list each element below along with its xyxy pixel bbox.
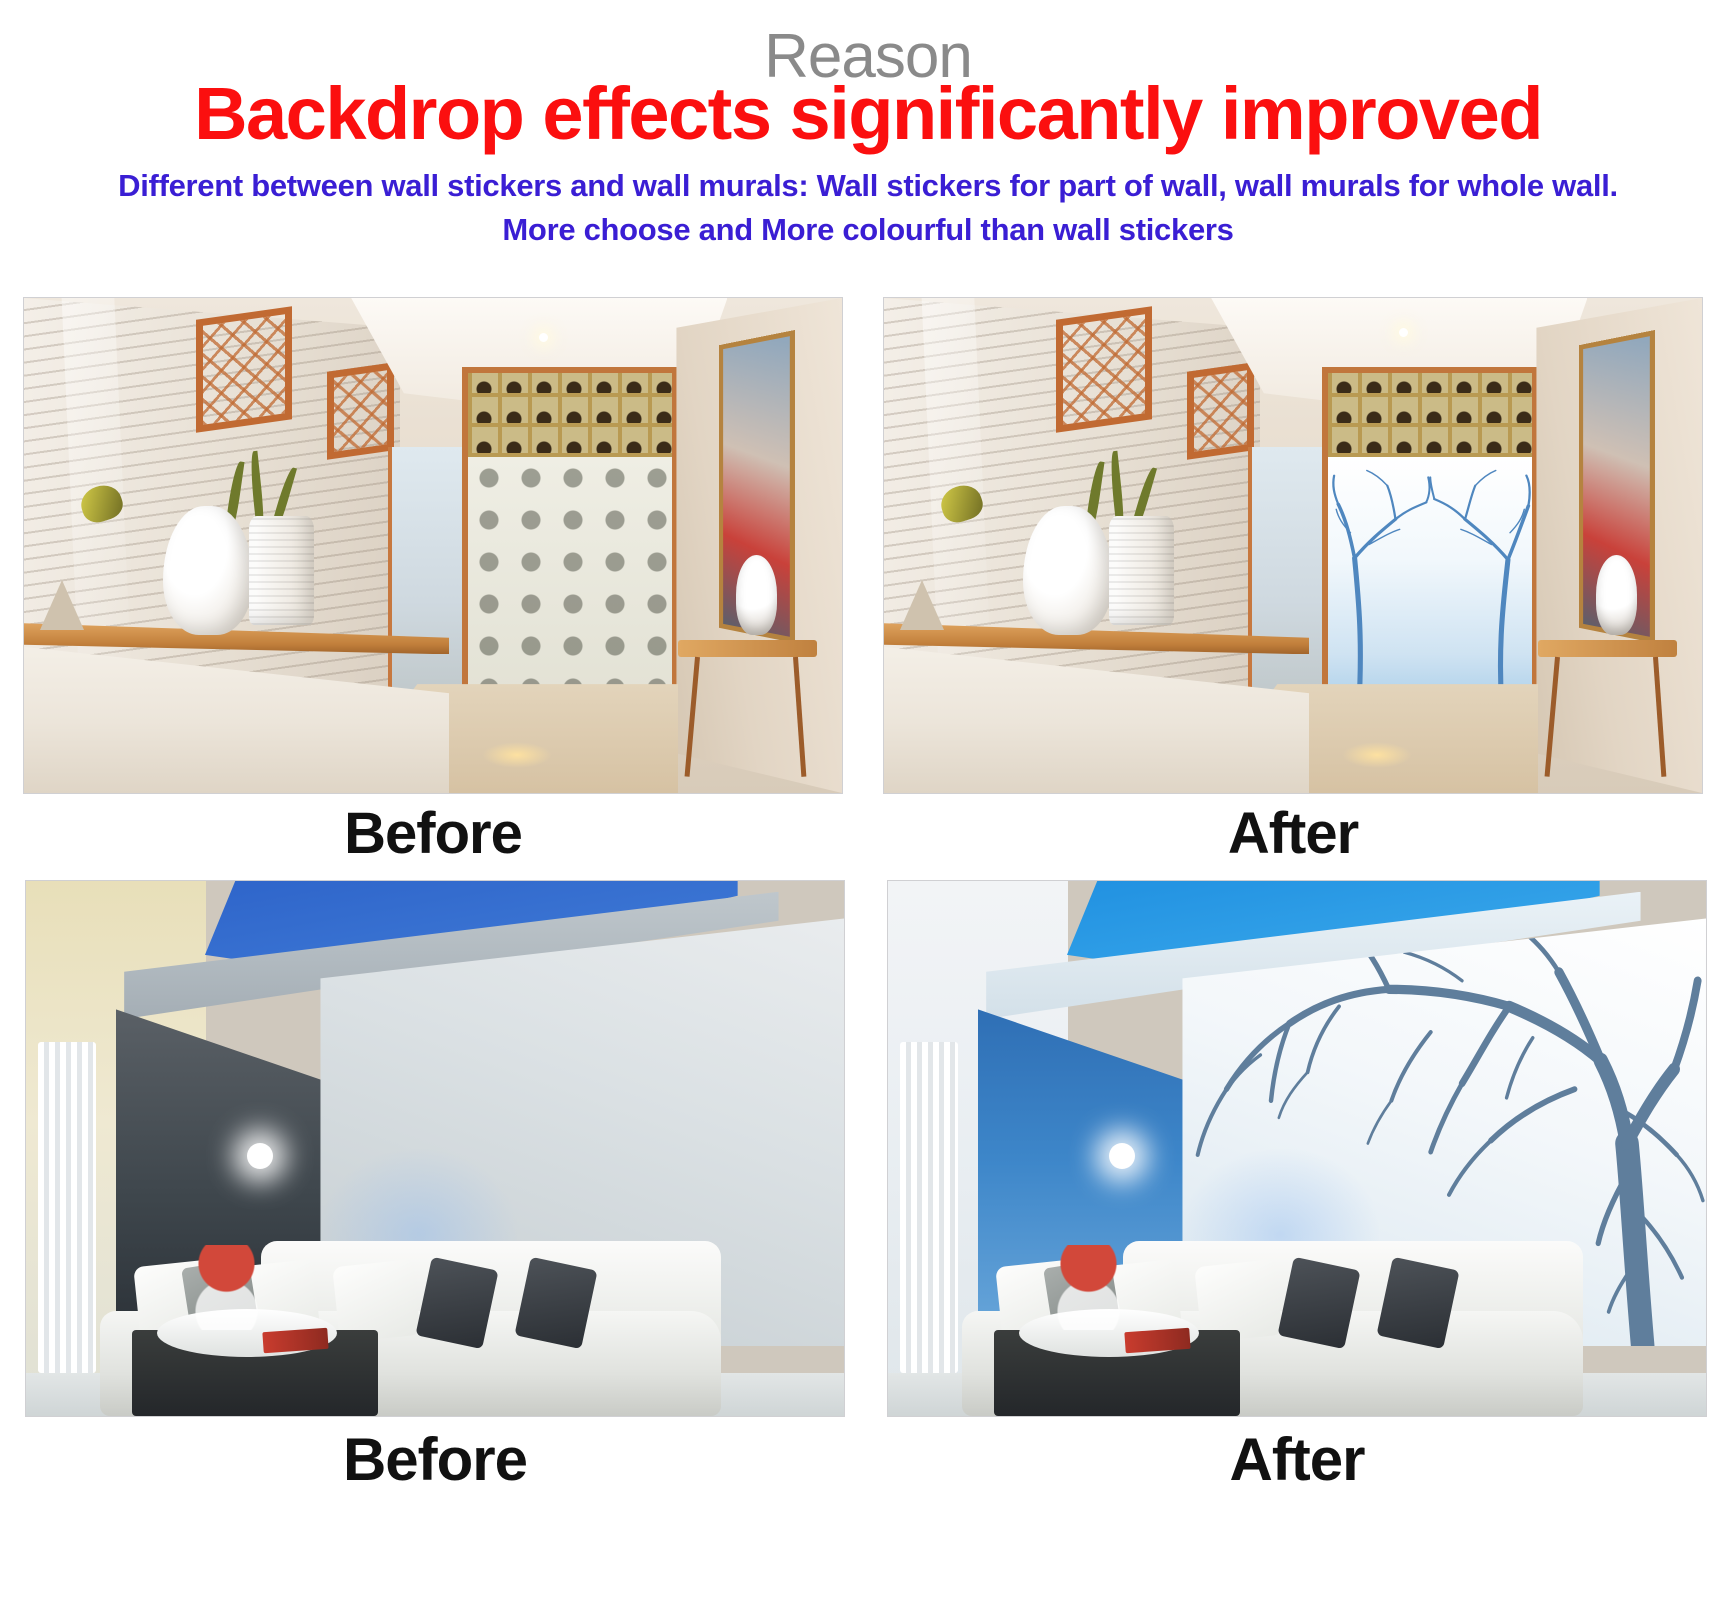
lattice-wall-art-small [1187,363,1254,461]
spotlight-icon [1109,1143,1135,1169]
console-leg-right [1653,657,1666,777]
caption-before: Before [344,805,522,863]
decorative-goblet [736,555,777,634]
cone-ornament [40,580,84,630]
cone-ornament [900,580,944,630]
photo-living-before [26,881,844,1416]
subtitle-line-1: Different between wall stickers and wall… [0,165,1736,207]
photo-living-after [888,881,1706,1416]
photo-hallway-before [24,298,842,793]
downlight-icon [1399,328,1408,337]
feature-wall-panel [1322,367,1539,716]
flower-vase [1052,1245,1126,1331]
lattice-wall-art-small [327,363,394,461]
lattice-wall-art-large [196,306,292,432]
caption-before: Before [343,1430,527,1490]
console-table [1538,640,1677,774]
caption-after: After [1228,805,1358,863]
carved-grille-panel [468,373,673,462]
caption-after: After [1229,1430,1364,1490]
radiator [900,1042,957,1374]
downlight-icon [539,333,548,342]
comparison-cell-living-before: Before [25,881,845,1490]
white-vase-large [1023,506,1113,635]
flower-vase [190,1245,264,1331]
comparison-row-hallway: Before [0,298,1736,863]
blue-tree-wall-mural [1328,457,1533,709]
plain-patterned-wallpaper [468,457,673,709]
doorway-opening [388,447,470,704]
header-block: Reason Backdrop effects significantly im… [0,0,1736,251]
radiator [38,1042,95,1374]
console-tabletop [678,640,817,657]
subtitle-line-2: More choose and More colourful than wall… [0,209,1736,251]
doorway-opening [1248,447,1330,704]
feature-wall-panel [462,367,679,716]
comparison-cell-hallway-after: After [882,298,1704,863]
decorative-goblet [1596,555,1637,634]
page-title: Backdrop effects significantly improved [0,76,1736,151]
comparison-row-living-room: Before [0,881,1736,1490]
photo-hallway-after [884,298,1702,793]
ribbed-planter [249,516,314,625]
spotlight-icon [247,1143,273,1169]
console-tabletop [1538,640,1677,657]
white-vase-large [163,506,253,635]
console-leg-left [1545,657,1560,777]
console-leg-left [685,657,700,777]
comparison-cell-living-after: After [887,881,1707,1490]
comparison-cell-hallway-before: Before [22,298,844,863]
tree-mural-graphic [1328,457,1533,709]
ribbed-planter [1109,516,1174,625]
carved-grille-panel [1328,373,1533,462]
console-table [678,640,817,774]
lattice-wall-art-large [1056,306,1152,432]
comparison-grid: Before [0,298,1736,1490]
console-leg-right [793,657,806,777]
